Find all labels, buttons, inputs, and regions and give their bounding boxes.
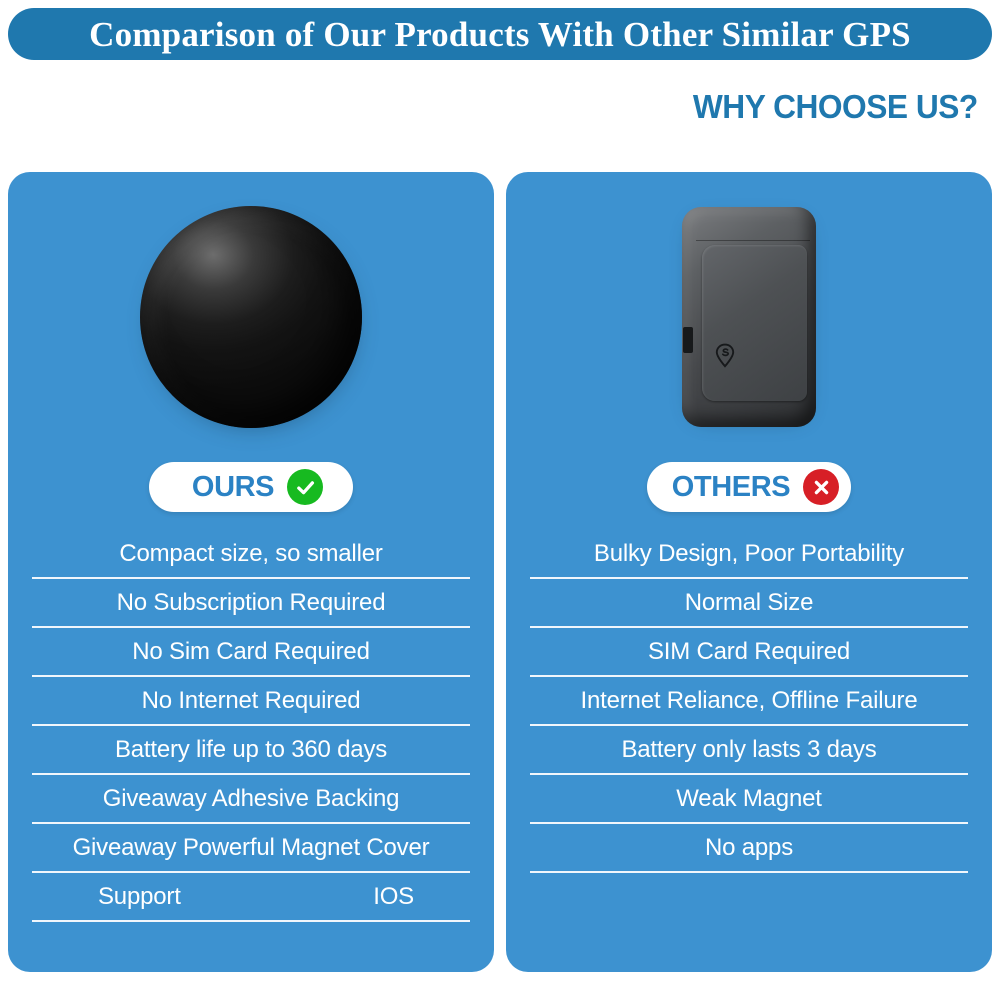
feature-row: Weak Magnet xyxy=(530,775,968,824)
rectangular-tracker-image xyxy=(682,207,816,427)
badge-others: OTHERS xyxy=(647,462,851,512)
feature-text: Compact size, so smaller xyxy=(119,541,382,566)
product-image-others xyxy=(506,172,992,462)
feature-row: SIM Card Required xyxy=(530,628,968,677)
feature-row: Battery only lasts 3 days xyxy=(530,726,968,775)
subtitle-why-choose-us: WHY CHOOSE US? xyxy=(693,88,978,126)
feature-row: Giveaway Adhesive Backing xyxy=(32,775,470,824)
subtitle-row: WHY CHOOSE US? xyxy=(0,88,1000,126)
comparison-panels: OURS Compact size, so smaller No Subscri… xyxy=(8,172,992,972)
feature-text: Bulky Design, Poor Portability xyxy=(594,541,904,566)
feature-text: Giveaway Powerful Magnet Cover xyxy=(73,835,430,860)
feature-text: Weak Magnet xyxy=(676,786,821,811)
tracker-rim xyxy=(140,206,362,428)
feature-text: Support xyxy=(98,884,181,909)
check-icon xyxy=(287,469,323,505)
feature-row: Bulky Design, Poor Portability xyxy=(530,530,968,579)
feature-text: Giveaway Adhesive Backing xyxy=(103,786,400,811)
tracker-body xyxy=(682,207,816,427)
feature-text: Normal Size xyxy=(685,590,814,615)
feature-row: No Internet Required xyxy=(32,677,470,726)
badge-label-ours: OURS xyxy=(192,473,274,502)
feature-text: SIM Card Required xyxy=(648,639,850,664)
tracker-face-panel xyxy=(702,245,807,401)
feature-row: Internet Reliance, Offline Failure xyxy=(530,677,968,726)
panel-ours: OURS Compact size, so smaller No Subscri… xyxy=(8,172,494,972)
feature-row-support: Support IOS xyxy=(32,873,470,922)
product-image-ours xyxy=(8,172,494,462)
feature-text: Battery only lasts 3 days xyxy=(621,737,876,762)
feature-text: No Sim Card Required xyxy=(132,639,369,664)
feature-text: Battery life up to 360 days xyxy=(115,737,387,762)
tracker-seam xyxy=(696,240,810,241)
header-banner: Comparison of Our Products With Other Si… xyxy=(8,8,992,60)
feature-text-platform: IOS xyxy=(373,884,414,909)
feature-row: Normal Size xyxy=(530,579,968,628)
feature-row: No apps xyxy=(530,824,968,873)
badge-ours: OURS xyxy=(149,462,353,512)
feature-list-others: Bulky Design, Poor Portability Normal Si… xyxy=(506,512,992,972)
feature-row: Battery life up to 360 days xyxy=(32,726,470,775)
round-tracker-image xyxy=(140,206,362,428)
feature-row: Giveaway Powerful Magnet Cover xyxy=(32,824,470,873)
feature-text: Internet Reliance, Offline Failure xyxy=(581,688,918,713)
feature-text: No Internet Required xyxy=(142,688,361,713)
map-pin-logo-icon xyxy=(715,343,735,368)
feature-row: No Subscription Required xyxy=(32,579,470,628)
comparison-infographic: Comparison of Our Products With Other Si… xyxy=(0,0,1000,984)
feature-row: No Sim Card Required xyxy=(32,628,470,677)
feature-list-ours: Compact size, so smaller No Subscription… xyxy=(8,512,494,972)
tracker-port xyxy=(683,327,693,353)
feature-text: No Subscription Required xyxy=(117,590,386,615)
badge-label-others: OTHERS xyxy=(672,473,790,502)
page-title: Comparison of Our Products With Other Si… xyxy=(89,17,911,52)
feature-row: Compact size, so smaller xyxy=(32,530,470,579)
panel-others: OTHERS Bulky Design, Poor Portability No… xyxy=(506,172,992,972)
cross-icon xyxy=(803,469,839,505)
feature-text: No apps xyxy=(705,835,793,860)
